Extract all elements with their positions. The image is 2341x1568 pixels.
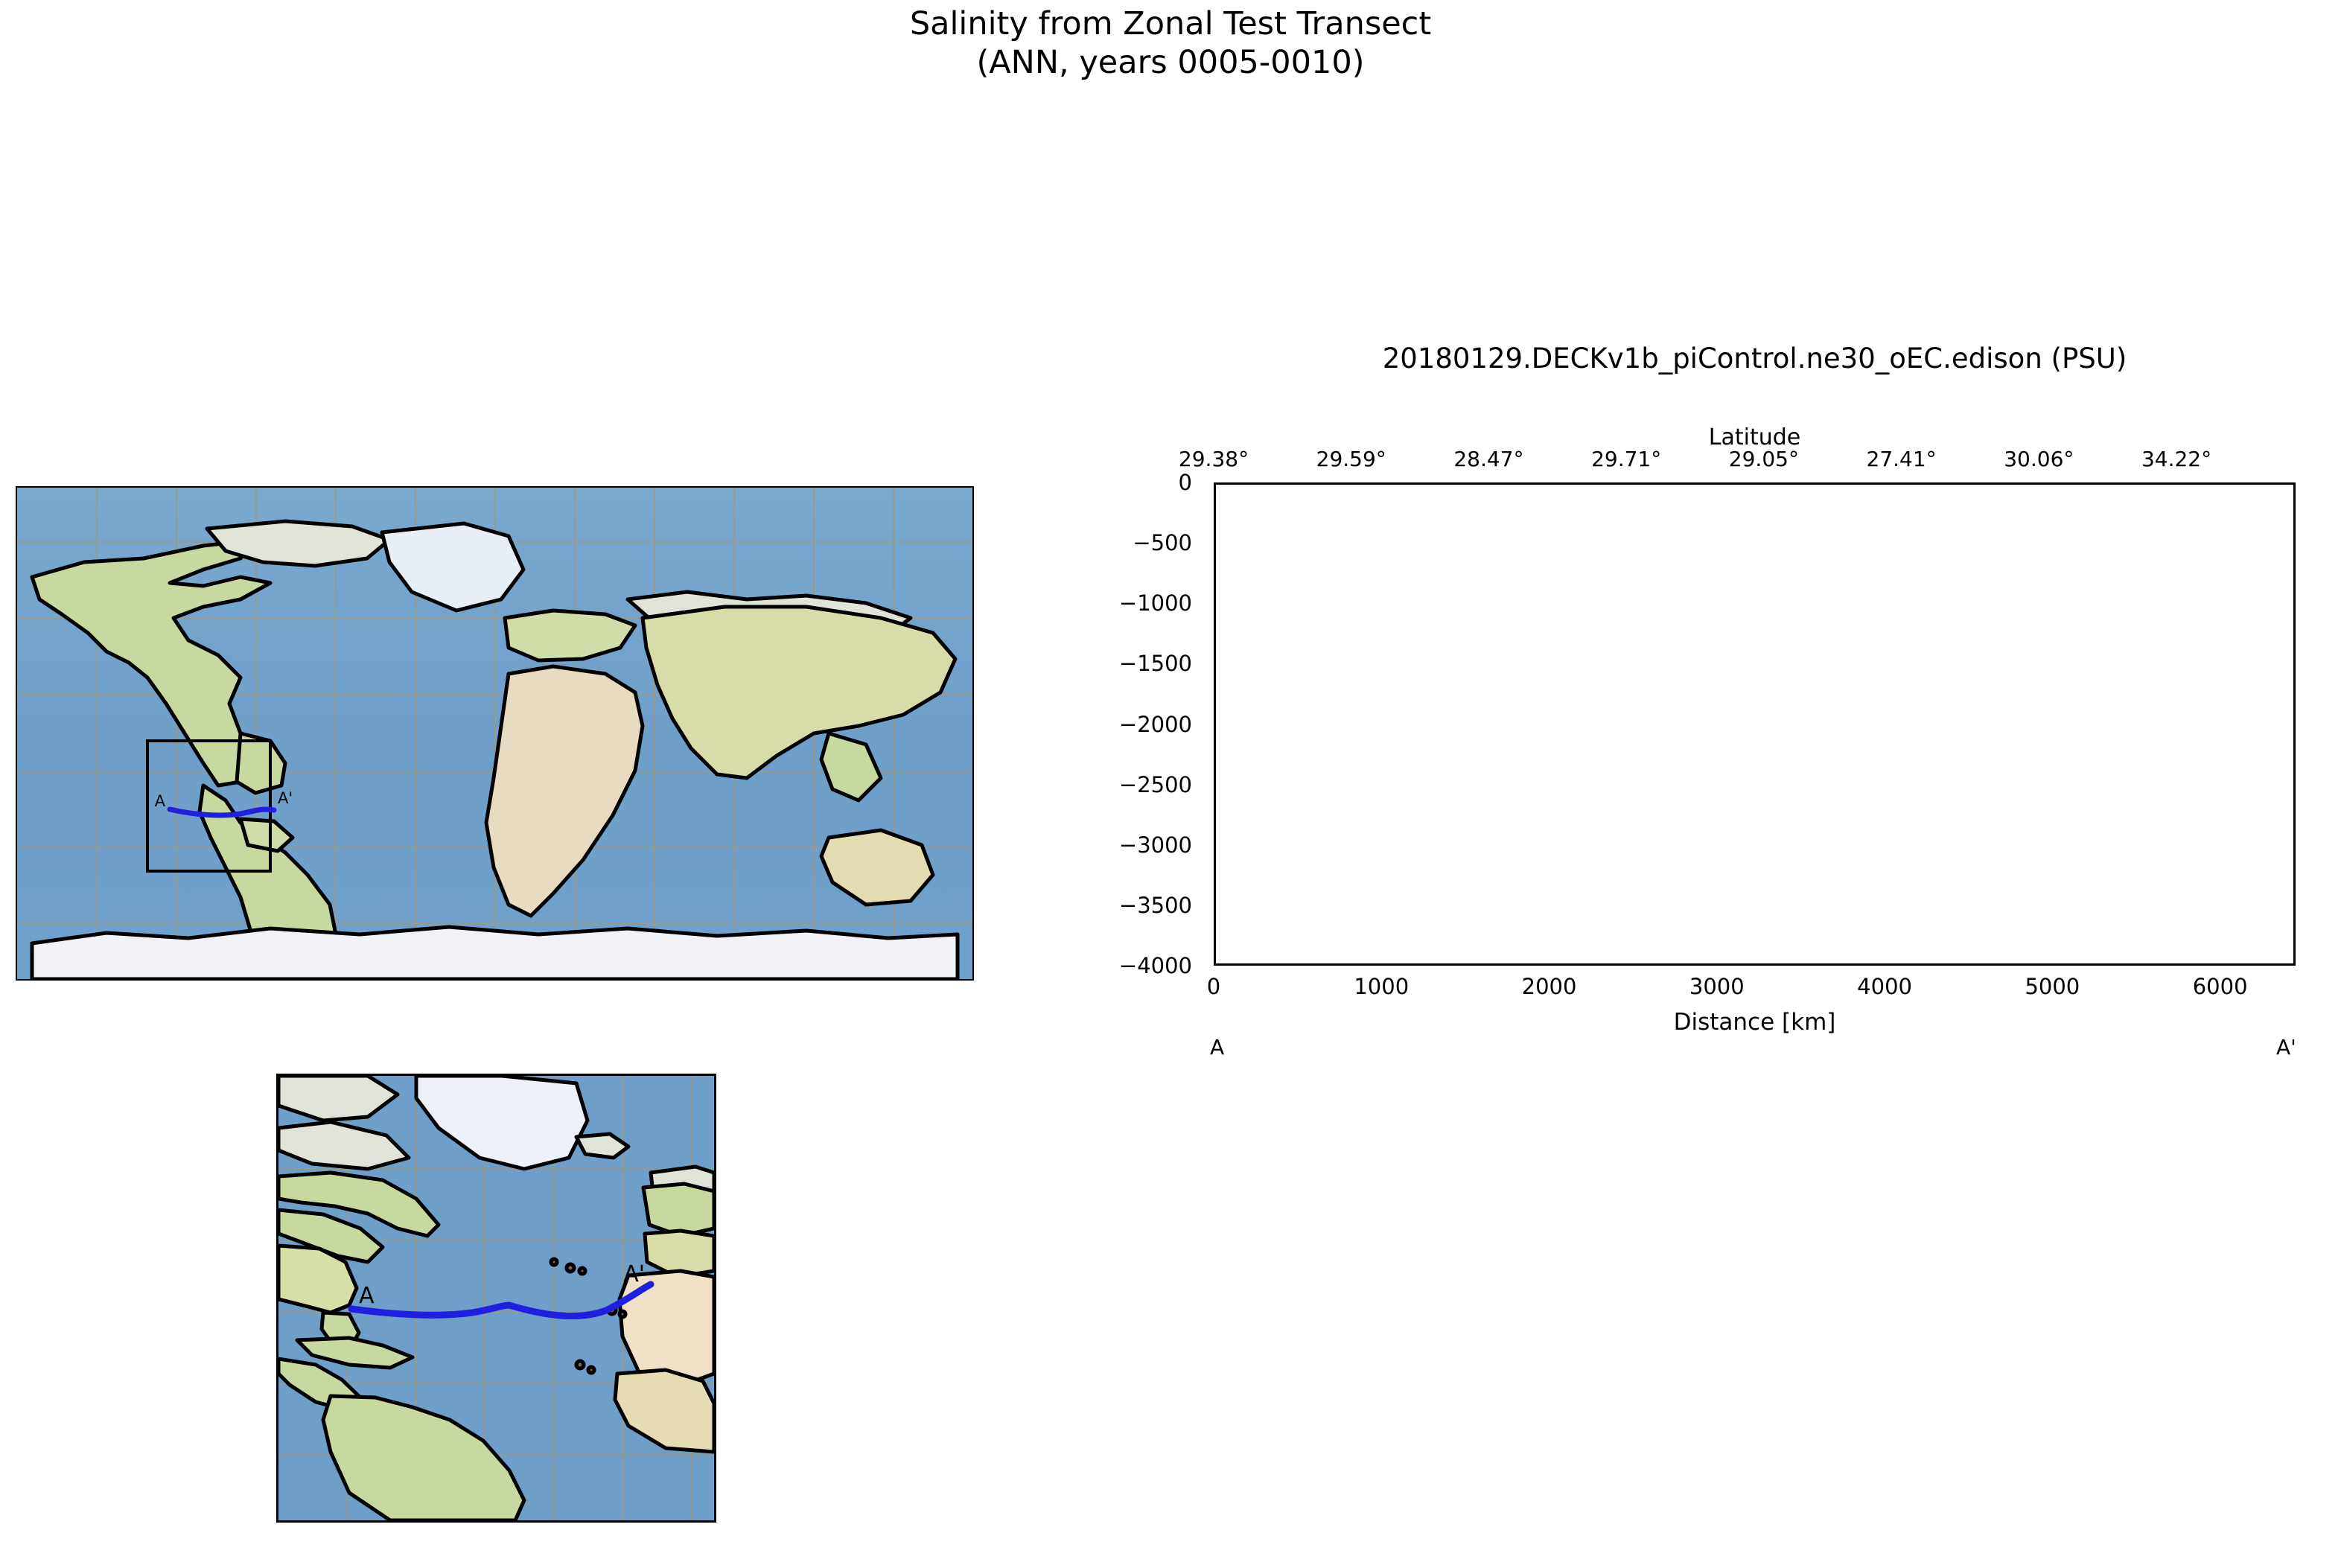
- depth-tick-0: 0: [1179, 470, 1192, 495]
- depth-tick-6: −3000: [1119, 832, 1192, 858]
- depth-tick-7: −3500: [1119, 893, 1192, 918]
- transect-start-label: A: [359, 1283, 375, 1309]
- latitude-tick-labels: 29.38°29.59°28.47°29.71°29.05°27.41°30.0…: [1214, 447, 2296, 477]
- figure-title: Salinity from Zonal Test Transect (ANN, …: [0, 4, 2341, 83]
- distance-tick-4: 4000: [1857, 974, 1912, 999]
- latitude-tick-3: 29.71°: [1591, 447, 1661, 471]
- latitude-tick-4: 29.05°: [1729, 447, 1799, 471]
- distance-tick-5: 5000: [2025, 974, 2080, 999]
- transect-end-label: A': [278, 789, 293, 807]
- zoom-map-graphic: A A': [278, 1076, 714, 1520]
- latitude-tick-2: 28.47°: [1453, 447, 1523, 471]
- depth-tick-2: −1000: [1119, 590, 1192, 616]
- distance-tick-labels: 0100020003000400050006000: [1214, 974, 2296, 1007]
- depth-tick-1: −500: [1133, 530, 1192, 555]
- north-atlantic-zoom-map[interactable]: A A': [276, 1074, 716, 1523]
- distance-tick-1: 1000: [1354, 974, 1409, 999]
- distance-tick-6: 6000: [2193, 974, 2248, 999]
- depth-tick-3: −1500: [1119, 651, 1192, 676]
- latitude-tick-5: 27.41°: [1867, 447, 1937, 471]
- distance-tick-3: 3000: [1689, 974, 1745, 999]
- transect-endpoint-aprime: A': [2276, 1035, 2296, 1059]
- depth-tick-4: −2000: [1119, 712, 1192, 737]
- latitude-tick-0: 29.38°: [1179, 447, 1249, 471]
- world-map-graphic: A A': [17, 488, 972, 979]
- distance-tick-0: 0: [1207, 974, 1220, 999]
- latitude-tick-7: 34.22°: [2141, 447, 2211, 471]
- subplot-title: 20180129.DECKv1b_piControl.ne30_oEC.edis…: [1214, 342, 2296, 375]
- world-overview-map[interactable]: A A': [16, 486, 974, 981]
- transect-endpoint-a: A: [1210, 1035, 1224, 1059]
- transect-start-label: A: [155, 792, 166, 810]
- distance-tick-2: 2000: [1522, 974, 1577, 999]
- plot-frame: [1214, 482, 2296, 966]
- depth-tick-5: −2500: [1119, 772, 1192, 797]
- latitude-tick-1: 29.59°: [1316, 447, 1386, 471]
- distance-axis-label: Distance [km]: [1214, 1009, 2296, 1036]
- salinity-transect-plot[interactable]: 36.0 35.5 35.0 35.0 36.0 36.5 35.0 34.0 …: [1214, 482, 2296, 966]
- depth-tick-labels: 0−500−1000−1500−2000−2500−3000−3500−4000: [1095, 482, 1203, 966]
- transect-end-label: A': [623, 1261, 645, 1287]
- depth-tick-8: −4000: [1119, 953, 1192, 978]
- latitude-tick-6: 30.06°: [2004, 447, 2074, 471]
